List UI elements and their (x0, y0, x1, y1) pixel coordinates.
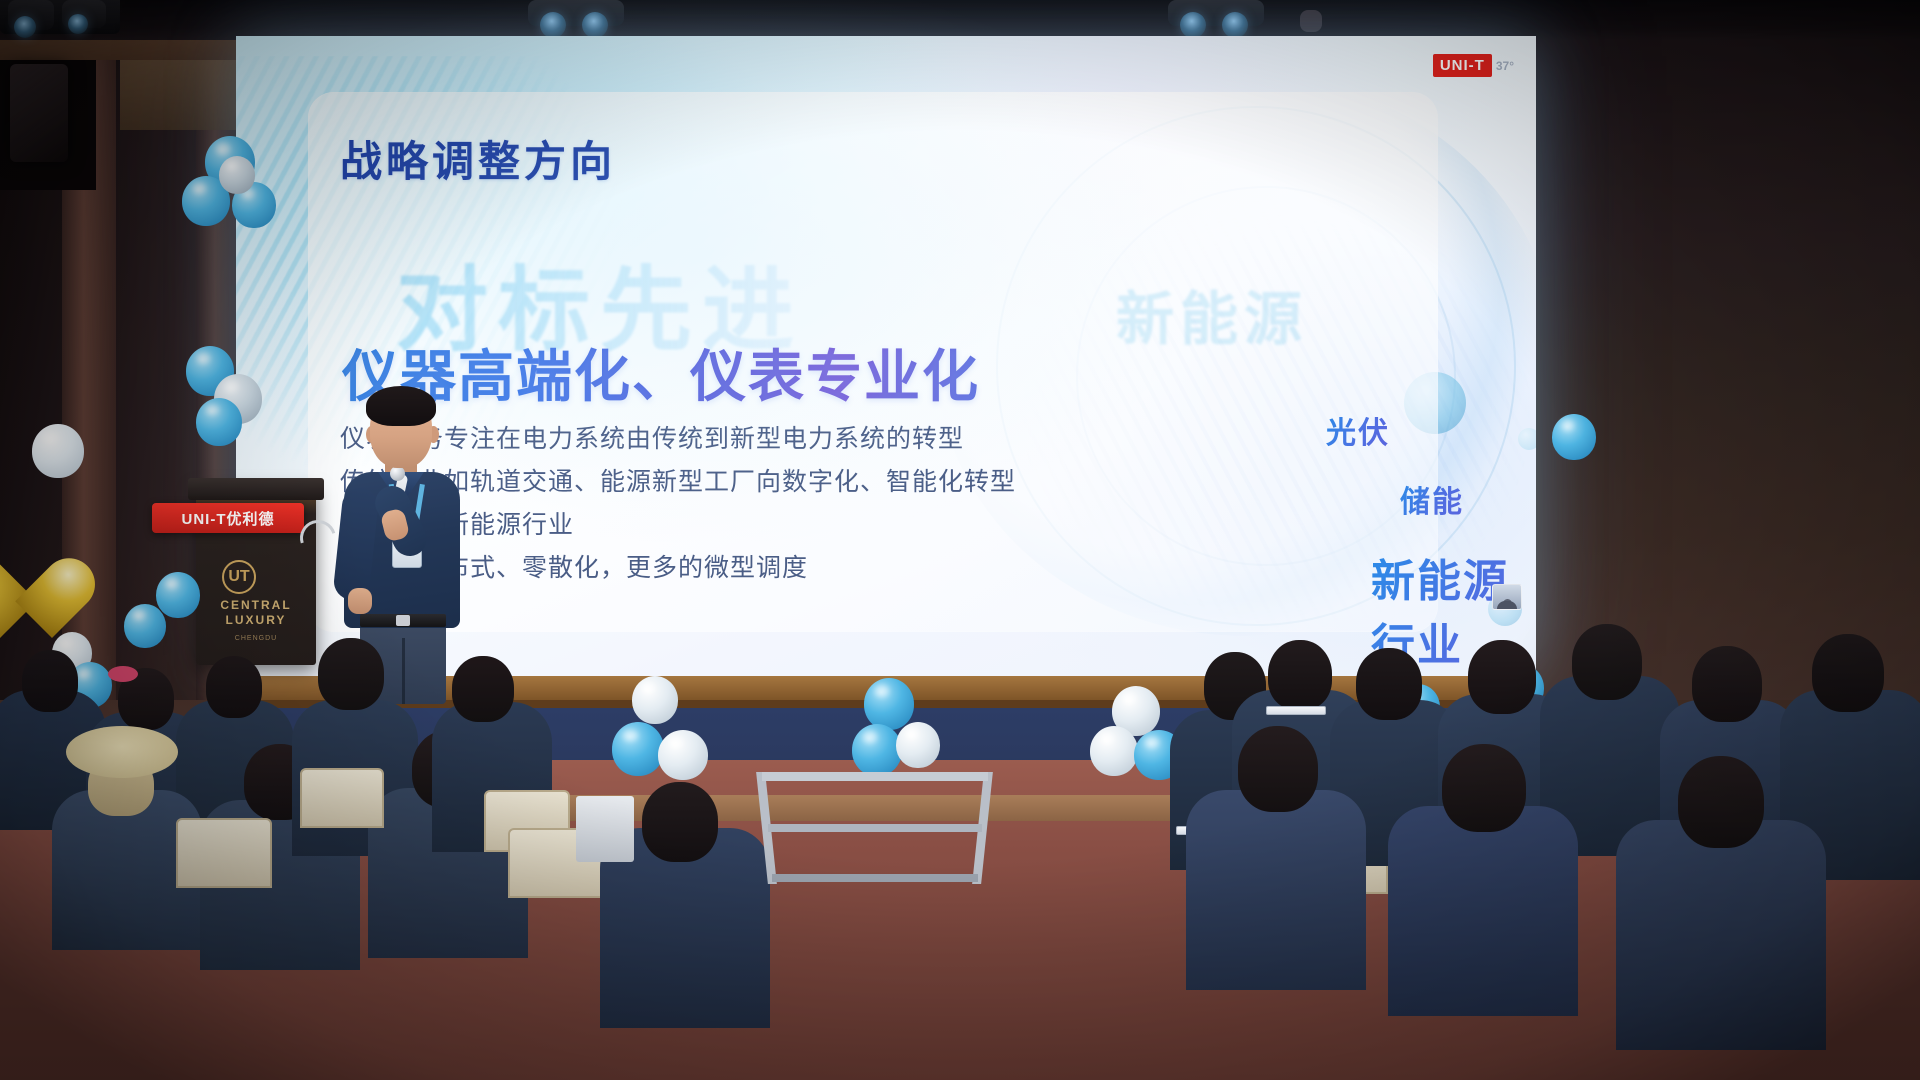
balloon-heart-gold (0, 562, 84, 638)
audience-head-18 (1678, 756, 1764, 848)
audience-head-15 (1812, 634, 1884, 712)
stage-light-lens-6 (1222, 12, 1248, 38)
slide-title: 战略调整方向 (340, 128, 616, 189)
audience-head-16 (1238, 726, 1318, 812)
unit-logo-suffix: 37° (1496, 59, 1514, 73)
audience-body-16 (1186, 790, 1366, 990)
slide-watermark-right: 新能源 (1116, 272, 1308, 356)
podium-top-surface (188, 478, 324, 500)
audience-badge-2 (1266, 706, 1326, 715)
venue-brand-city: CHENGDU (196, 631, 316, 646)
pip-silhouette-body (1497, 601, 1517, 609)
balloon-blue-9 (612, 722, 664, 776)
audience-body-18 (1616, 820, 1826, 1050)
presenter-left-hand (348, 588, 372, 614)
conference-photo: 对标先进 新能源 战略调整方向 仪器高端化、仪表专业化 仪表业务专注在电力系统由… (0, 0, 1920, 1080)
presenter-camera-thumbnail (1492, 584, 1522, 610)
ceiling (0, 0, 1920, 40)
stage-light-lens-5 (1180, 12, 1206, 38)
audience-head-14 (1692, 646, 1762, 722)
presenter-hair (366, 386, 436, 426)
ceiling-vent (1300, 10, 1322, 32)
audience-head-11 (1356, 648, 1422, 720)
slide-brand-logo: UNI-T 37° (1433, 54, 1514, 77)
balloon-blue-6 (156, 572, 200, 618)
chair-1 (300, 768, 384, 828)
stage-light-lens-2 (68, 14, 88, 34)
slide-tag-photovoltaic: 光伏 (1326, 408, 1390, 452)
unit-logo-mark: UNI-T (1433, 54, 1492, 77)
venue-brand-label: CENTRAL LUXURY CHENGDU (196, 598, 316, 646)
step-stool-rail-bottom (772, 874, 978, 882)
stage-light-lens-3 (540, 12, 566, 38)
balloon-blue-7 (124, 604, 166, 648)
side-table (576, 796, 634, 862)
balloon-blue-10 (864, 678, 914, 730)
audience-hairclip-1 (108, 666, 138, 682)
audience-head-6 (318, 638, 384, 710)
stage-light-lens-4 (582, 12, 608, 38)
audience-head-10 (1268, 640, 1332, 710)
podium-brand-plate: UNI-T优利德 (152, 503, 304, 533)
balloon-silver-1 (219, 156, 255, 194)
presenter-belt-buckle (396, 615, 410, 626)
balloon-blue-15 (1552, 414, 1596, 460)
audience-head-1 (22, 650, 78, 712)
audience-head-17 (1442, 744, 1526, 832)
screen-bubble-3 (1518, 428, 1536, 450)
audience-sunhat (66, 726, 178, 778)
audience-head-19 (642, 782, 718, 862)
venue-emblem-icon: UT (222, 560, 256, 594)
audience-head-12 (1468, 640, 1536, 714)
step-stool-rail-mid (768, 824, 982, 832)
balloon-white-7 (1090, 726, 1138, 776)
balloon-white-3 (632, 676, 678, 724)
venue-brand-name: CENTRAL LUXURY (220, 598, 291, 627)
audience-head-8 (452, 656, 514, 722)
step-stool-rail-top (762, 772, 988, 781)
balloon-white-1 (32, 424, 84, 478)
balloon-white-5 (896, 722, 940, 768)
audience-head-3 (206, 656, 262, 718)
wall-light-fixture (10, 64, 68, 162)
audience-head-13 (1572, 624, 1642, 700)
presenter-leg-gap (402, 638, 405, 704)
balloon-blue-11 (852, 724, 902, 776)
microphone-capsule (390, 466, 405, 481)
podium-brand-text: UNI-T优利德 (182, 508, 275, 529)
slide-tag-energy-storage: 储能 (1400, 477, 1464, 521)
balloon-white-4 (658, 730, 708, 780)
venue-emblem-text: UT (228, 568, 249, 586)
chair-3 (176, 818, 272, 888)
stage-light-lens-1 (14, 16, 36, 38)
back-wall-right (1540, 0, 1920, 700)
audience-body-17 (1388, 806, 1578, 1016)
balloon-blue-5 (196, 398, 242, 446)
